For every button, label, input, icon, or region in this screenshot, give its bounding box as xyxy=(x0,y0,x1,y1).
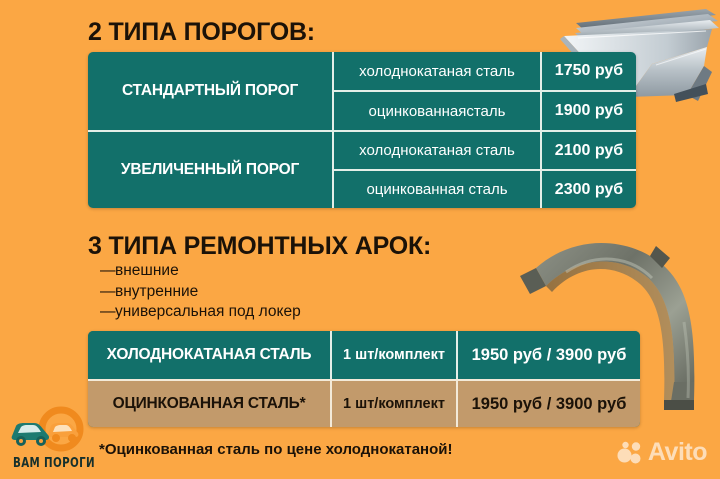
price-cell: 1950 руб / 3900 руб xyxy=(456,381,640,427)
arch-types-list: —внешние —внутренние —универсальная под … xyxy=(100,261,301,323)
price-cell: 1900 руб xyxy=(540,92,636,130)
table-row: ОЦИНКОВАННАЯ СТАЛЬ* 1 шт/комплект 1950 р… xyxy=(88,379,640,427)
table-row: СТАНДАРТНЫЙ ПОРОГ холоднокатаная сталь 1… xyxy=(88,52,636,130)
avito-dots-icon xyxy=(617,441,643,465)
sill-type-label: СТАНДАРТНЫЙ ПОРОГ xyxy=(88,52,332,130)
material-cell: холоднокатаная сталь xyxy=(334,132,540,169)
material-cell: ХОЛОДНОКАТАНАЯ СТАЛЬ xyxy=(88,331,330,379)
sills-price-table: СТАНДАРТНЫЙ ПОРОГ холоднокатаная сталь 1… xyxy=(88,52,636,208)
advertisement-image: 2 ТИПА ПОРОГОВ: СТАНДАРТНЫЙ ПОРОГ холодн… xyxy=(0,0,720,479)
table-row: оцинкованнаясталь 1900 руб xyxy=(334,90,636,130)
material-cell: ОЦИНКОВАННАЯ СТАЛЬ* xyxy=(88,381,330,427)
brand-logo: ВАМ ПОРОГИ xyxy=(4,404,104,476)
list-item: —универсальная под локер xyxy=(100,302,301,323)
dash-icon: — xyxy=(100,261,115,282)
car-icon xyxy=(48,423,79,442)
table-row: ХОЛОДНОКАТАНАЯ СТАЛЬ 1 шт/комплект 1950 … xyxy=(88,331,640,379)
list-item: —внешние xyxy=(100,261,301,282)
footnote-text: *Оцинкованная сталь по цене холоднокатан… xyxy=(99,441,452,458)
dash-icon: — xyxy=(100,302,115,323)
price-cell: 1750 руб xyxy=(540,52,636,90)
material-cell: оцинкованная сталь xyxy=(334,171,540,208)
sill-type-label: УВЕЛИЧЕННЫЙ ПОРОГ xyxy=(88,132,332,208)
page-title-sills: 2 ТИПА ПОРОГОВ: xyxy=(88,18,315,47)
material-cell: оцинкованнаясталь xyxy=(334,92,540,130)
quantity-cell: 1 шт/комплект xyxy=(330,331,456,379)
logo-text: ВАМ ПОРОГИ xyxy=(10,456,98,471)
quantity-cell: 1 шт/комплект xyxy=(330,381,456,427)
list-item-label: внешние xyxy=(115,262,179,279)
table-row: оцинкованная сталь 2300 руб xyxy=(334,169,636,208)
list-item-label: внутренние xyxy=(115,283,198,300)
sill-variants: холоднокатаная сталь 1750 руб оцинкованн… xyxy=(332,52,636,130)
dash-icon: — xyxy=(100,282,115,303)
list-item-label: универсальная под локер xyxy=(115,303,301,320)
avito-wordmark: Avito xyxy=(648,440,707,465)
price-cell: 2300 руб xyxy=(540,171,636,208)
table-row: УВЕЛИЧЕННЫЙ ПОРОГ холоднокатаная сталь 2… xyxy=(88,130,636,208)
price-cell: 1950 руб / 3900 руб xyxy=(456,331,640,379)
arches-price-table: ХОЛОДНОКАТАНАЯ СТАЛЬ 1 шт/комплект 1950 … xyxy=(88,331,640,427)
list-item: —внутренние xyxy=(100,282,301,303)
price-cell: 2100 руб xyxy=(540,132,636,169)
sill-variants: холоднокатаная сталь 2100 руб оцинкованн… xyxy=(332,132,636,208)
logo-mark xyxy=(4,404,104,456)
page-title-arches: 3 ТИПА РЕМОНТНЫХ АРОК: xyxy=(88,232,431,261)
avito-watermark: Avito xyxy=(617,440,707,465)
material-cell: холоднокатаная сталь xyxy=(334,52,540,90)
table-row: холоднокатаная сталь 2100 руб xyxy=(334,132,636,169)
table-row: холоднокатаная сталь 1750 руб xyxy=(334,52,636,90)
